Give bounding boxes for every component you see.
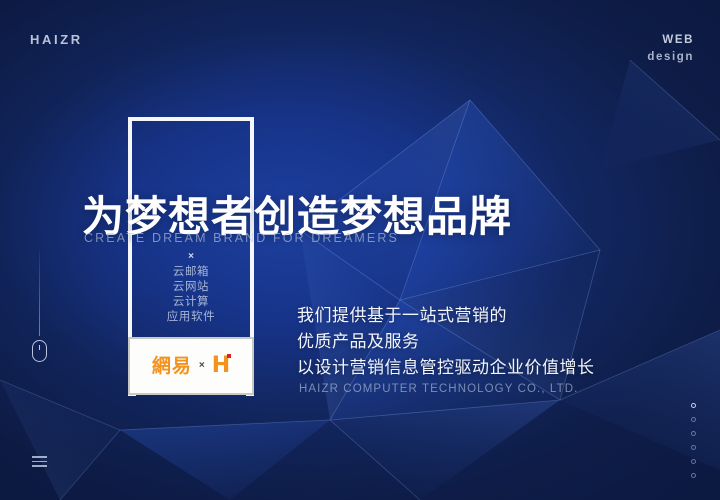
brand-logo[interactable]: HAIZR [30,32,83,47]
service-list: 云邮箱 云网站 云计算 应用软件 [128,265,254,325]
web-design-line2: design [647,49,694,66]
mouse-scroll-icon[interactable] [32,340,47,362]
scroll-rail-line [39,250,40,336]
hamburger-bar-3 [32,465,47,467]
service-item-cloud-website[interactable]: 云网站 [128,280,254,295]
haizr-h-logo: H [212,355,230,377]
web-design-line1: WEB [647,32,694,49]
pagination-dot-6[interactable] [691,473,696,478]
pagination-dot-3[interactable] [691,431,696,436]
body-copy: 我们提供基于一站式营销的 优质产品及服务 以设计营销信息管控驱动企业价值增长 [297,303,595,381]
mouse-wheel-icon [39,345,40,350]
hero-subtitle-en: CREATE DREAM BRAND FOR DREAMERS [84,231,399,245]
netease-logo: 網易 [152,357,192,376]
slide-pagination[interactable] [691,403,696,478]
cross-separator-icon: × [186,252,196,262]
company-name-en: HAIZR COMPUTER TECHNOLOGY CO., LTD. [299,383,578,395]
pagination-dot-1[interactable] [691,403,696,408]
hamburger-menu-icon[interactable] [32,456,47,467]
pagination-dot-4[interactable] [691,445,696,450]
background-vignette [0,0,720,500]
partner-logo-box[interactable]: 網易 × H [128,337,254,395]
hamburger-bar-2 [32,461,47,463]
body-line-1: 我们提供基于一站式营销的 [297,303,595,329]
hamburger-bar-1 [32,456,47,458]
partner-cross-icon: × [199,361,205,371]
service-item-cloud-mail[interactable]: 云邮箱 [128,265,254,280]
pagination-dot-2[interactable] [691,417,696,422]
pagination-dot-5[interactable] [691,459,696,464]
body-line-3: 以设计营销信息管控驱动企业价值增长 [297,355,595,381]
body-line-2: 优质产品及服务 [297,329,595,355]
haizr-logo-dot-icon [227,354,231,358]
web-design-label: WEB design [647,32,694,66]
service-item-cloud-computing[interactable]: 云计算 [128,295,254,310]
service-item-app-software[interactable]: 应用软件 [128,310,254,325]
hero-slide: HAIZR WEB design 为梦想者创造梦想品牌 CREATE DREAM… [0,0,720,500]
